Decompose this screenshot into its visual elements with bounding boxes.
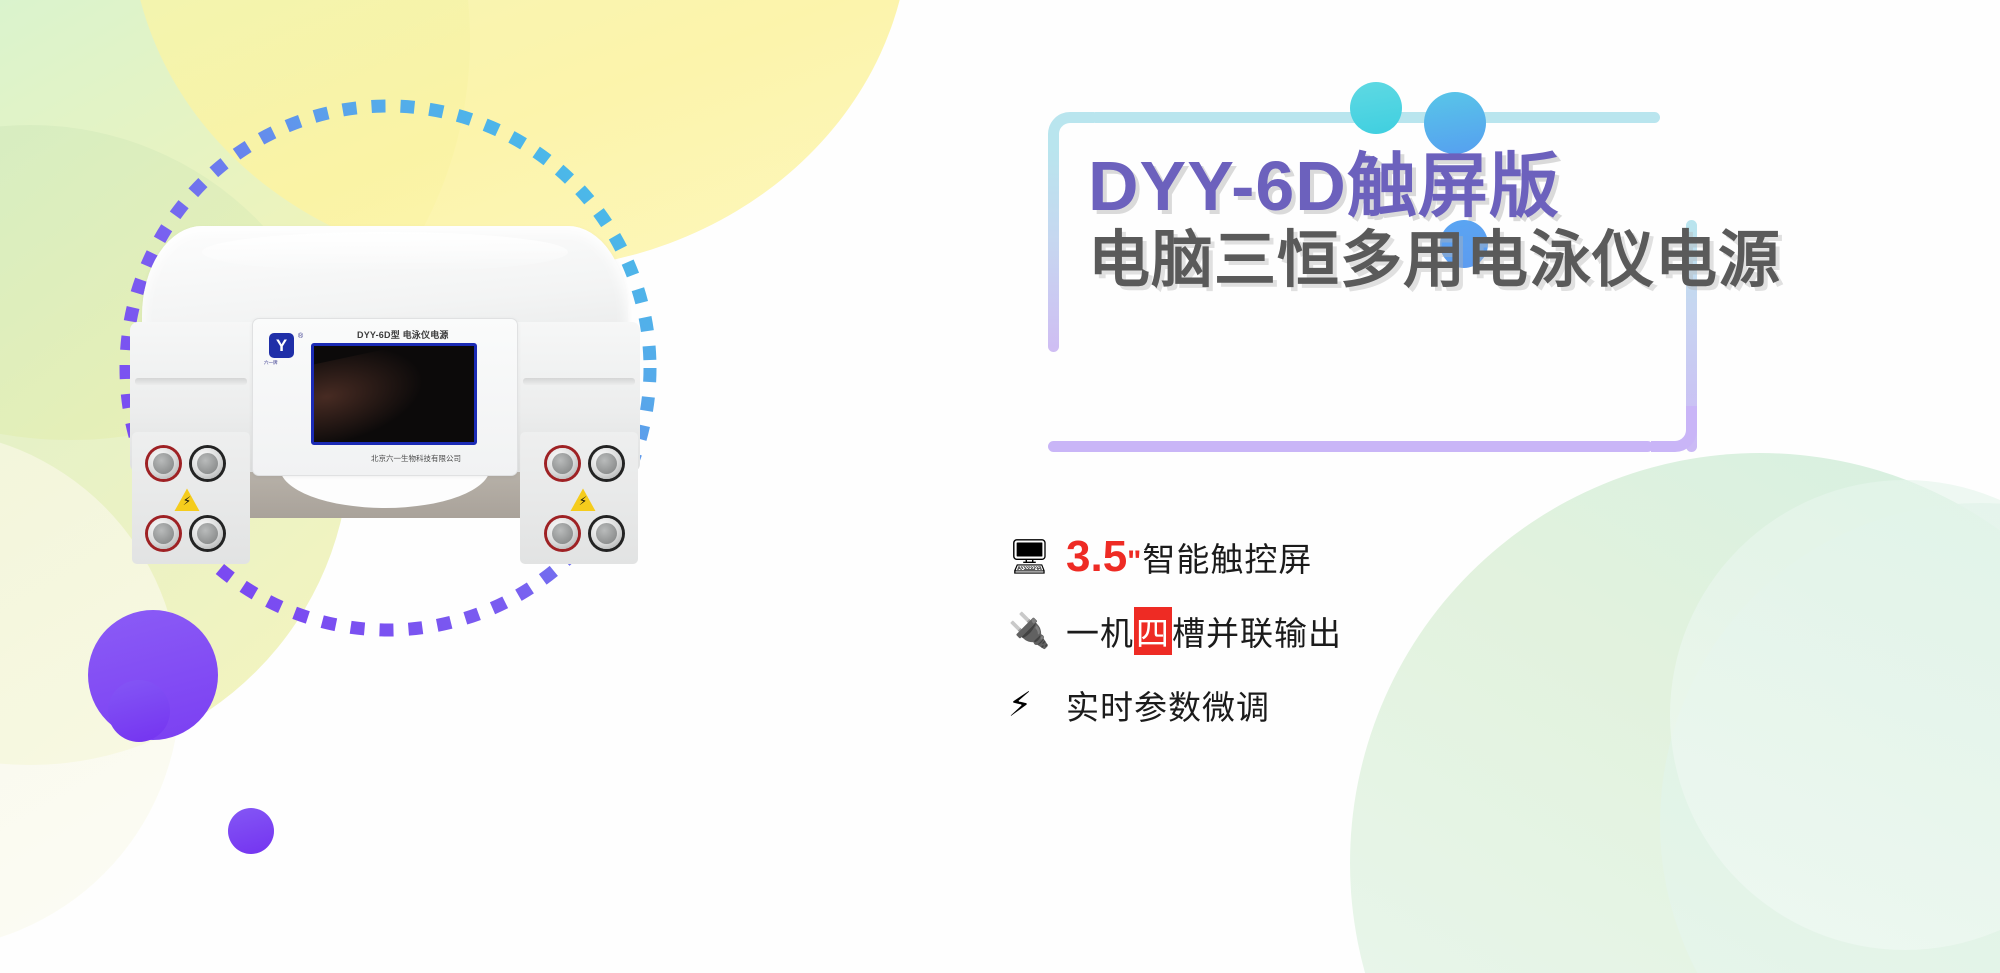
monitor-icon: 🖥 — [1008, 540, 1066, 574]
feature-label: 一机 四 槽并联输出 — [1066, 607, 1342, 655]
slot-count-highlight: 四 — [1134, 607, 1172, 655]
feature-label: 3.5 " 智能触控屏 — [1066, 532, 1312, 582]
banana-jack-black — [591, 448, 622, 479]
plug-icon: 🔌 — [1008, 614, 1066, 648]
hero-title-block: DYY-6D触屏版 电脑三恒多用电泳仪电源 — [1088, 145, 1708, 298]
feature-item-four-slot-output: 🔌 一机 四 槽并联输出 — [1008, 594, 1708, 668]
page-title: DYY-6D触屏版 — [1088, 145, 1708, 228]
product-company-label: 北京六一生物科技有限公司 — [371, 453, 461, 464]
frame-corner-bottom-right — [1651, 406, 1697, 452]
feature-item-touchscreen: 🖥 3.5 " 智能触控屏 — [1008, 520, 1708, 594]
brand-logo-icon: Y — [269, 333, 294, 358]
feature-label: 实时参数微调 — [1066, 681, 1270, 729]
product-left-divider — [135, 378, 247, 385]
lightning-icon: ⚡ — [1008, 688, 1066, 722]
registered-trademark-icon: ® — [298, 333, 303, 340]
product-front-panel: Y ® 六一牌 DYY-6D型 电泳仪电源 北京六一生物科技有限公司 — [252, 318, 518, 476]
banana-jack-black — [192, 448, 223, 479]
banana-jack-red — [148, 448, 179, 479]
slot-suffix-text: 槽并联输出 — [1172, 607, 1342, 655]
brand-logo-subtext: 六一牌 — [264, 360, 278, 366]
frame-stroke-left — [1048, 150, 1059, 352]
product-lcd-screen — [311, 343, 477, 445]
page-subtitle: 电脑三恒多用电泳仪电源 — [1088, 224, 1708, 298]
decor-circle-purple-medium — [108, 680, 170, 742]
decor-dot-cyan-small — [1350, 82, 1402, 134]
frame-stroke-bottom — [1048, 441, 1653, 452]
banana-jack-black — [591, 518, 622, 549]
slot-prefix-text: 一机 — [1066, 607, 1134, 655]
banana-jack-red — [148, 518, 179, 549]
inch-unit: " — [1127, 545, 1142, 579]
content-panel: DYY-6D触屏版 电脑三恒多用电泳仪电源 🖥 3.5 " 智能触控屏 🔌 一机… — [940, 0, 2000, 973]
product-right-divider — [523, 378, 635, 385]
banana-jack-red — [547, 448, 578, 479]
realtime-tuning-text: 实时参数微调 — [1066, 681, 1270, 729]
product-model-label: DYY-6D型 电泳仪电源 — [357, 328, 449, 341]
banana-jack-black — [192, 518, 223, 549]
feature-item-realtime-tuning: ⚡ 实时参数微调 — [1008, 668, 1708, 742]
decor-circle-purple-small — [228, 808, 274, 854]
touchscreen-label-text: 智能触控屏 — [1142, 533, 1312, 581]
banana-jack-red — [547, 518, 578, 549]
touchscreen-size-value: 3.5 — [1066, 532, 1127, 582]
product-image: Y ® 六一牌 DYY-6D型 电泳仪电源 北京六一生物科技有限公司 — [130, 218, 640, 518]
product-banner: Y ® 六一牌 DYY-6D型 电泳仪电源 北京六一生物科技有限公司 DYY-6… — [0, 0, 2000, 973]
feature-list: 🖥 3.5 " 智能触控屏 🔌 一机 四 槽并联输出 ⚡ 实时参数微调 — [1008, 520, 1708, 742]
